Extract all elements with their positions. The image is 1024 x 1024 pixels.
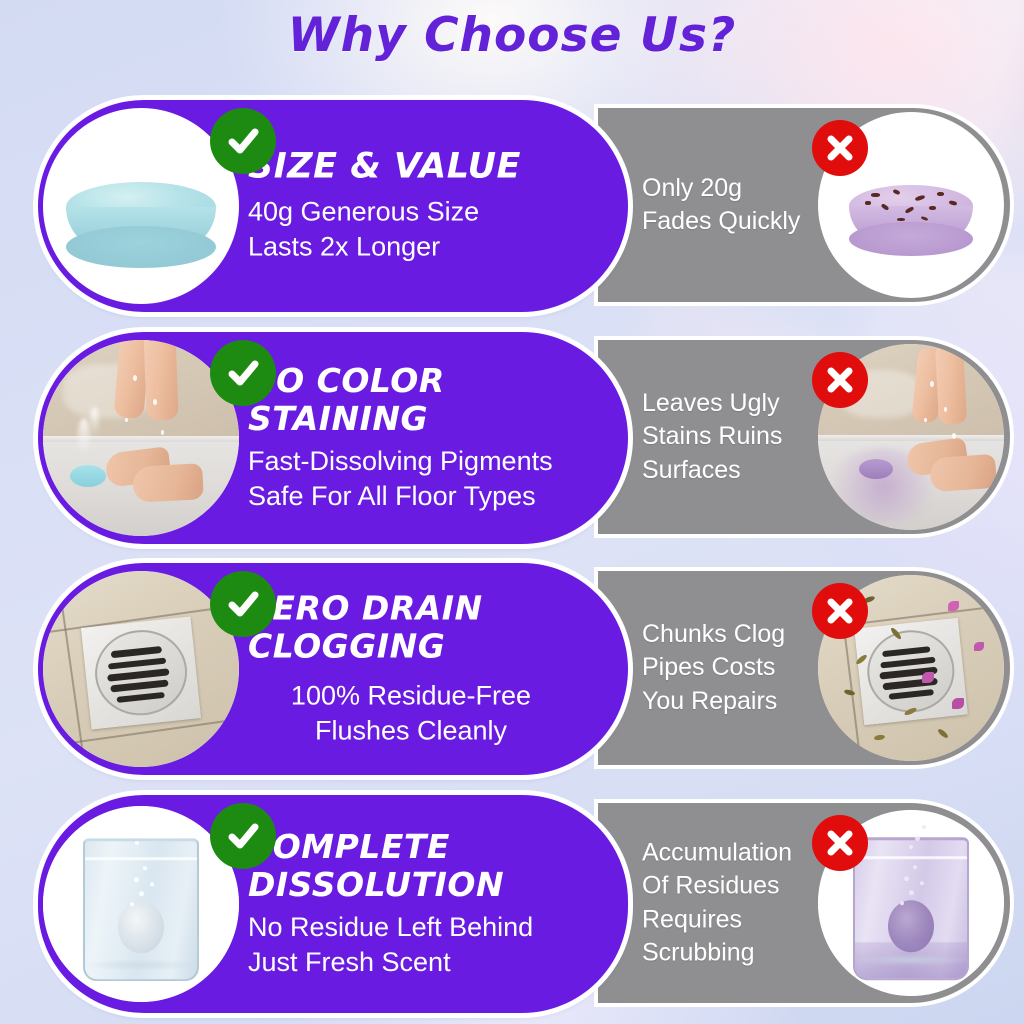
- purple-tablet-illustration: [849, 185, 973, 247]
- pro-card: COMPLETE DISSOLUTION No Residue Left Beh…: [38, 795, 628, 1013]
- con-card: Only 20g Fades Quickly: [598, 108, 1010, 302]
- page-title: Why Choose Us?: [0, 8, 1024, 63]
- cross-icon: [824, 132, 856, 164]
- check-icon: [223, 816, 263, 856]
- cross-icon: [824, 364, 856, 396]
- con-text: Accumulation Of Residues Requires Scrubb…: [642, 837, 792, 970]
- cross-icon: [824, 827, 856, 859]
- comparison-row: Accumulation Of Residues Requires Scrubb…: [0, 795, 1024, 1013]
- con-card: Chunks Clog Pipes Costs You Repairs: [598, 571, 1010, 765]
- pro-text-block: COMPLETE DISSOLUTION No Residue Left Beh…: [248, 828, 614, 980]
- pro-body: 40g Generous Size Lasts 2x Longer: [248, 194, 614, 264]
- cross-badge: [812, 120, 868, 176]
- con-text: Chunks Clog Pipes Costs You Repairs: [642, 618, 785, 718]
- check-icon: [223, 121, 263, 161]
- con-card: Leaves Ugly Stains Ruins Surfaces: [598, 340, 1010, 534]
- blue-tablet-illustration: [66, 182, 216, 254]
- comparison-row: Only 20g Fades Quickly: [0, 100, 1024, 312]
- con-text: Only 20g Fades Quickly: [642, 172, 800, 239]
- cross-badge: [812, 583, 868, 639]
- pro-heading: NO COLOR STAINING: [248, 362, 614, 437]
- cross-badge: [812, 815, 868, 871]
- pro-card: NO COLOR STAINING Fast-Dissolving Pigmen…: [38, 332, 628, 544]
- check-badge: [210, 571, 276, 637]
- pro-body: Fast-Dissolving Pigments Safe For All Fl…: [248, 444, 614, 514]
- infographic-page: Why Choose Us? Only 20g Fades Quickly: [0, 0, 1024, 1024]
- comparison-row: Leaves Ugly Stains Ruins Surfaces: [0, 332, 1024, 544]
- pro-heading: SIZE & VALUE: [248, 147, 614, 187]
- check-icon: [223, 353, 263, 393]
- con-text: Leaves Ugly Stains Ruins Surfaces: [642, 387, 782, 487]
- pro-heading: ZERO DRAIN CLOGGING: [248, 589, 614, 664]
- check-icon: [223, 584, 263, 624]
- comparison-row: Chunks Clog Pipes Costs You Repairs: [0, 563, 1024, 775]
- pro-text-block: SIZE & VALUE 40g Generous Size Lasts 2x …: [248, 147, 614, 264]
- con-card: Accumulation Of Residues Requires Scrubb…: [598, 803, 1010, 1003]
- pro-text-block: ZERO DRAIN CLOGGING 100% Residue-Free Fl…: [248, 589, 614, 748]
- cross-badge: [812, 352, 868, 408]
- check-badge: [210, 340, 276, 406]
- pro-card: SIZE & VALUE 40g Generous Size Lasts 2x …: [38, 100, 628, 312]
- pro-body: 100% Residue-Free Flushes Cleanly: [248, 679, 614, 749]
- cross-icon: [824, 595, 856, 627]
- pro-body: No Residue Left Behind Just Fresh Scent: [248, 910, 614, 980]
- pro-heading: COMPLETE DISSOLUTION: [248, 828, 614, 903]
- check-badge: [210, 803, 276, 869]
- pro-text-block: NO COLOR STAINING Fast-Dissolving Pigmen…: [248, 362, 614, 514]
- pro-card: ZERO DRAIN CLOGGING 100% Residue-Free Fl…: [38, 563, 628, 775]
- check-badge: [210, 108, 276, 174]
